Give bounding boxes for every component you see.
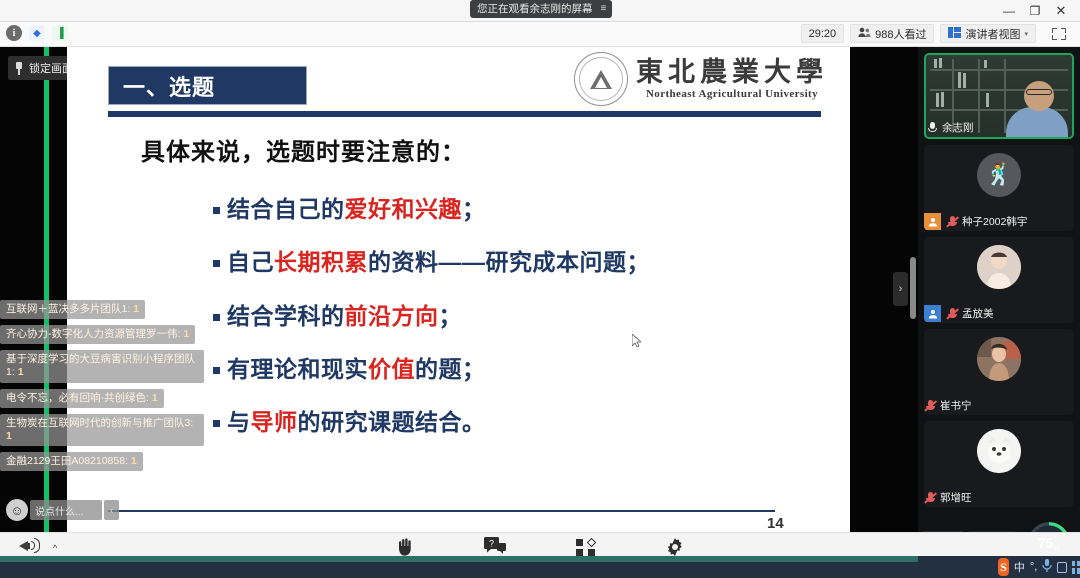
chat-collapse-icon[interactable]: ‹ bbox=[104, 500, 119, 520]
mic-muted-icon bbox=[946, 307, 959, 320]
participant-label: 郭增旺 bbox=[924, 488, 977, 507]
keyboard-icon[interactable] bbox=[1057, 562, 1067, 573]
avatar bbox=[977, 245, 1021, 289]
mic-icon bbox=[926, 121, 939, 134]
sogou-ime-icon[interactable]: S bbox=[998, 558, 1009, 576]
participant-name: 崔书宁 bbox=[940, 398, 972, 413]
participant-name: 郭增旺 bbox=[940, 490, 972, 505]
screen-share-notice: 您正在观看余志刚的屏幕 ≡ bbox=[470, 0, 612, 18]
gauge-unit: % bbox=[1053, 544, 1060, 553]
chat-message: 基于深度学习的大豆病害识别小程序团队1: 1 bbox=[0, 350, 204, 382]
viewer-count-chip[interactable]: 988人看过 bbox=[850, 24, 934, 43]
mic-muted-icon bbox=[946, 215, 959, 228]
participant-name: 孟放美 bbox=[962, 306, 994, 321]
speaker-head bbox=[1024, 81, 1054, 111]
toolbar-right-group: 29:20 988人看过 演讲者视图 ▾ bbox=[801, 24, 1076, 43]
close-button[interactable]: ✕ bbox=[1048, 1, 1074, 21]
participant-tile-active-speaker[interactable]: 余志刚 bbox=[924, 53, 1074, 139]
bullet-square-icon bbox=[213, 367, 220, 374]
bullet-text: 结合学科的前沿方向； bbox=[227, 304, 462, 329]
bullet-text: 与导师的研究课题结合。 bbox=[227, 410, 486, 435]
meeting-window: 您正在观看余志刚的屏幕 ≡ — ❐ ✕ i ◆ ▐ 29:20 988人看过 bbox=[0, 0, 1080, 578]
maximize-button[interactable]: ❐ bbox=[1022, 1, 1048, 21]
slide-bullet-item: 结合自己的爱好和兴趣； bbox=[213, 197, 813, 222]
view-mode-selector[interactable]: 演讲者视图 ▾ bbox=[940, 24, 1036, 43]
toolbox-icon[interactable] bbox=[1072, 561, 1080, 574]
slide-title: 一、选题 bbox=[123, 70, 215, 102]
bullet-text: 结合自己的爱好和兴趣； bbox=[227, 197, 486, 222]
bullet-text: 自己长期积累的资料——研究成本问题； bbox=[227, 250, 650, 275]
viewer-count-label: 988人看过 bbox=[875, 26, 926, 42]
fullscreen-button[interactable] bbox=[1042, 24, 1076, 43]
participant-rail: 余志刚 🕺 种子2002韩宇 孟放美 bbox=[918, 47, 1080, 532]
ime-punctuation-icon[interactable]: °, bbox=[1030, 561, 1037, 573]
apps-grid-icon bbox=[576, 536, 595, 556]
mic-muted-icon bbox=[924, 399, 937, 412]
university-logo: 東北農業大學 Northeast Agricultural University bbox=[574, 52, 828, 106]
stage-scrollbar[interactable] bbox=[910, 257, 916, 319]
participant-label: 余志刚 bbox=[926, 118, 979, 137]
chat-overlay: 互联网＋蓝决多多片团队1: 1 齐心协力-数字化人力资源管理罗一伟: 1 基于深… bbox=[0, 300, 210, 477]
participant-badge-icon bbox=[924, 305, 941, 322]
avatar: 🕺 bbox=[977, 153, 1021, 197]
notice-menu-icon[interactable]: ≡ bbox=[601, 0, 606, 18]
university-name-en: Northeast Agricultural University bbox=[646, 88, 818, 100]
participant-name: 余志刚 bbox=[942, 120, 974, 135]
os-taskbar: S 中 °, bbox=[0, 556, 1080, 578]
emoji-icon[interactable]: ☺ bbox=[6, 499, 28, 521]
slide-title-rule bbox=[108, 111, 821, 117]
network-bars-icon[interactable]: ▐ bbox=[52, 25, 68, 41]
host-badge-icon bbox=[924, 213, 941, 230]
avatar bbox=[977, 337, 1021, 381]
layout-icon bbox=[948, 27, 961, 41]
screen-share-notice-text: 您正在观看余志刚的屏幕 bbox=[477, 0, 593, 18]
participant-tile[interactable]: 崔书宁 bbox=[924, 329, 1074, 415]
meeting-toolbar: i ◆ ▐ 29:20 988人看过 演讲者视图 ▾ bbox=[0, 22, 1080, 47]
ime-voice-icon[interactable] bbox=[1042, 559, 1052, 575]
svg-text:?: ? bbox=[489, 538, 494, 548]
slide-title-box: 一、选题 bbox=[108, 66, 307, 105]
glasses-icon bbox=[1026, 89, 1052, 95]
avatar bbox=[977, 429, 1021, 473]
bullet-square-icon bbox=[213, 314, 220, 321]
fullscreen-icon bbox=[1050, 25, 1068, 43]
bullet-square-icon bbox=[213, 260, 220, 267]
view-mode-label: 演讲者视图 bbox=[965, 26, 1020, 42]
pin-icon bbox=[14, 62, 24, 75]
toolbar-left-icons: i ◆ ▐ bbox=[6, 25, 68, 41]
slide-bullet-item: 自己长期积累的资料——研究成本问题； bbox=[213, 250, 813, 275]
participant-tile[interactable]: 郭增旺 bbox=[924, 421, 1074, 507]
chat-message: 生物炭在互联网时代的创新与推广团队3: 1 bbox=[0, 414, 204, 446]
chat-message: 金融2129王田A08210858: 1 bbox=[0, 452, 143, 471]
gauge-value: 75 bbox=[1038, 535, 1054, 551]
people-icon bbox=[858, 27, 871, 41]
slide-footer-rule bbox=[108, 510, 775, 512]
chat-message: 互联网＋蓝决多多片团队1: 1 bbox=[0, 300, 145, 319]
info-icon[interactable]: i bbox=[6, 25, 22, 41]
participant-name: 种子2002韩宇 bbox=[962, 214, 1027, 229]
minimize-button[interactable]: — bbox=[996, 1, 1022, 21]
window-titlebar: 您正在观看余志刚的屏幕 ≡ — ❐ ✕ bbox=[0, 0, 1080, 22]
window-controls: — ❐ ✕ bbox=[996, 1, 1074, 21]
university-name-cn: 東北農業大學 bbox=[636, 58, 828, 88]
participant-tile[interactable]: 孟放美 bbox=[924, 237, 1074, 323]
gear-icon bbox=[666, 536, 684, 556]
university-seal-icon bbox=[574, 52, 628, 106]
chat-message: 电令不忘，必有回响-共创绿色: 1 bbox=[0, 389, 164, 408]
shared-screen-stage: 锁定画面 一、选题 東北農業大學 Northeast Agricultural … bbox=[0, 47, 918, 532]
slide-bullet-item: 与导师的研究课题结合。 bbox=[213, 410, 813, 435]
speaker-body bbox=[1006, 107, 1068, 137]
slide-lead-text: 具体来说，选题时要注意的： bbox=[141, 132, 466, 167]
slide-bullet-list: 结合自己的爱好和兴趣； 自己长期积累的资料——研究成本问题； 结合学科的前沿方向… bbox=[213, 197, 813, 463]
ime-language-icon[interactable]: 中 bbox=[1014, 559, 1025, 575]
participant-label: 种子2002韩宇 bbox=[924, 212, 1032, 231]
bullet-text: 有理论和现实价值的题； bbox=[227, 357, 486, 382]
chevron-down-icon[interactable]: ▾ bbox=[1024, 30, 1028, 38]
chat-message: 齐心协力-数字化人力资源管理罗一伟: 1 bbox=[0, 325, 195, 344]
bullet-square-icon bbox=[213, 420, 220, 427]
slide-bullet-item: 结合学科的前沿方向； bbox=[213, 304, 813, 329]
participant-tile[interactable]: 🕺 种子2002韩宇 bbox=[924, 145, 1074, 231]
slide-bullet-item: 有理论和现实价值的题； bbox=[213, 357, 813, 382]
mic-muted-icon bbox=[924, 491, 937, 504]
bullet-square-icon bbox=[213, 207, 220, 214]
slide-page-number: 14 bbox=[767, 515, 784, 532]
chat-bubble-icon: ? bbox=[484, 536, 506, 556]
meeting-timer: 29:20 bbox=[801, 24, 845, 43]
panel-collapse-button[interactable]: › bbox=[893, 272, 908, 306]
participant-label: 崔书宁 bbox=[924, 396, 977, 415]
chat-input[interactable]: 说点什么... bbox=[30, 500, 102, 520]
ime-tray: S 中 °, bbox=[998, 556, 1080, 578]
chat-input-row: ☺ 说点什么... ‹ bbox=[6, 499, 119, 521]
taskbar-accent-strip bbox=[0, 556, 918, 562]
mouse-cursor-icon bbox=[632, 334, 641, 347]
participant-label: 孟放美 bbox=[924, 304, 999, 323]
shield-icon[interactable]: ◆ bbox=[29, 25, 45, 41]
university-logo-text: 東北農業大學 Northeast Agricultural University bbox=[636, 58, 828, 101]
hand-icon bbox=[396, 536, 414, 556]
